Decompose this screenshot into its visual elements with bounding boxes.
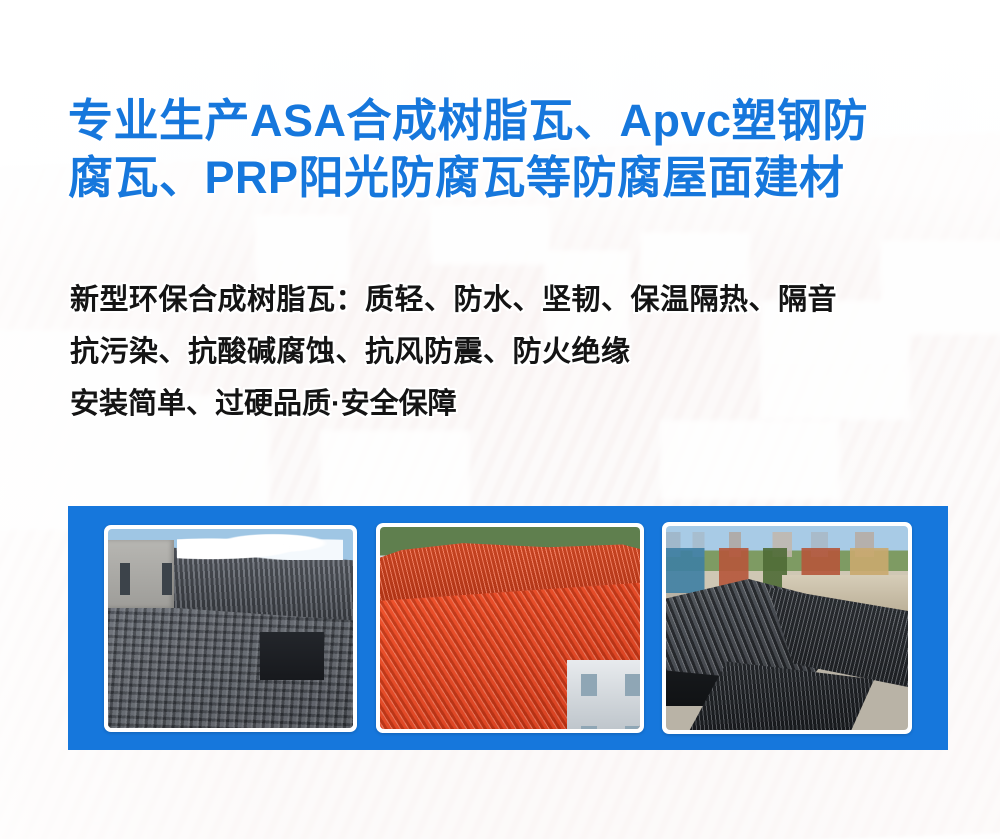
photo-dark-resin-tile-roof-village — [666, 526, 908, 730]
feature-line-3: 安装简单、过硬品质·安全保障 — [70, 378, 970, 430]
headline-line-1: 专业生产ASA合成树脂瓦、Apvc塑钢防 — [68, 92, 948, 149]
photo-frame-1[interactable] — [104, 525, 357, 732]
photo1-building — [108, 540, 174, 608]
product-banner: 专业生产ASA合成树脂瓦、Apvc塑钢防 腐瓦、PRP阳光防腐瓦等防腐屋面建材 … — [0, 0, 1000, 839]
photo-frame-3[interactable] — [662, 522, 912, 734]
headline-line-2: 腐瓦、PRP阳光防腐瓦等防腐屋面建材 — [68, 149, 948, 206]
photo-frame-2[interactable] — [376, 523, 644, 733]
photo2-left-wall — [380, 596, 437, 685]
photo3-ground — [782, 575, 908, 616]
photo-gallery-panel — [68, 506, 948, 750]
photo-red-resin-tile-roofs-building — [380, 527, 640, 729]
feature-line-1: 新型环保合成树脂瓦：质轻、防水、坚韧、保温隔热、隔音 — [70, 274, 970, 326]
photo2-facade — [567, 660, 640, 729]
photo3-lower-roof — [685, 657, 874, 730]
feature-line-2: 抗污染、抗酸碱腐蚀、抗风防震、防火绝缘 — [70, 326, 970, 378]
photo2-white-building — [460, 555, 574, 608]
photo-grey-resin-tile-roof-courtyard — [108, 529, 353, 728]
photo1-clouds — [177, 532, 344, 560]
feature-list: 新型环保合成树脂瓦：质轻、防水、坚韧、保温隔热、隔音 抗污染、抗酸碱腐蚀、抗风防… — [70, 274, 970, 430]
headline: 专业生产ASA合成树脂瓦、Apvc塑钢防 腐瓦、PRP阳光防腐瓦等防腐屋面建材 — [68, 92, 948, 206]
photo1-doorway — [260, 632, 324, 680]
